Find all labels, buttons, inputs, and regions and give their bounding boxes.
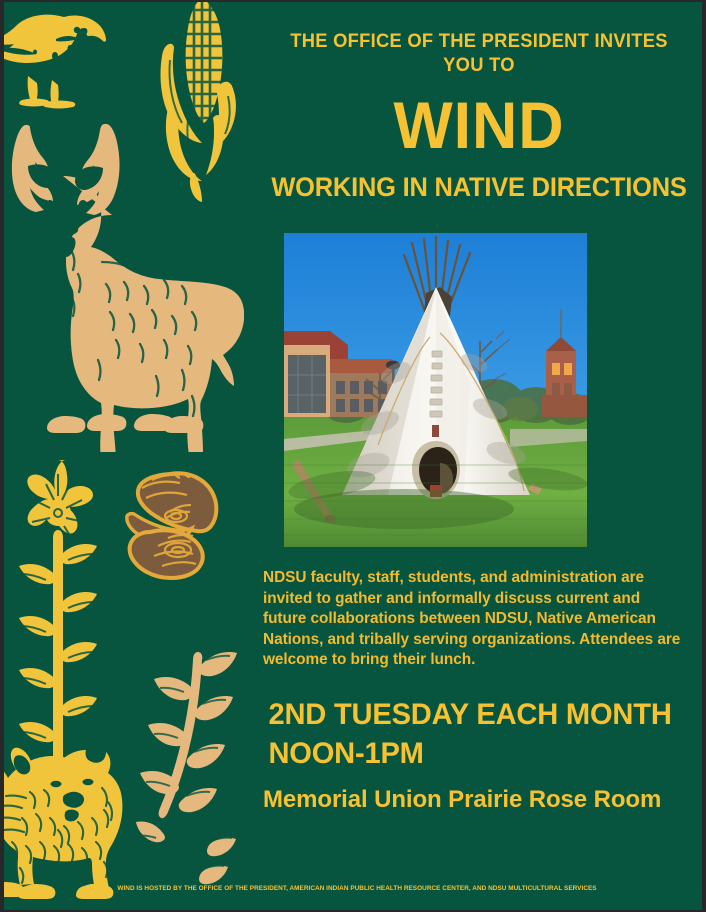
illustration-rail bbox=[4, 2, 256, 910]
invitation-kicker: THE OFFICE OF THE PRESIDENT INVITES YOU … bbox=[269, 2, 688, 78]
sunflower-plant-icon bbox=[6, 454, 114, 844]
meadowlark-bird-icon bbox=[0, 8, 126, 114]
tipi-photo-image bbox=[284, 233, 587, 547]
event-time: NOON-1PM bbox=[268, 738, 685, 770]
kicker-line-2: YOU TO bbox=[443, 54, 515, 76]
event-location: Memorial Union Prairie Rose Room bbox=[263, 787, 693, 813]
poster-content: THE OFFICE OF THE PRESIDENT INVITES YOU … bbox=[256, 2, 702, 910]
event-schedule: 2ND TUESDAY EACH MONTH NOON-1PM bbox=[268, 699, 685, 770]
kicker-line-1: THE OFFICE OF THE PRESIDENT INVITES bbox=[290, 30, 668, 52]
leafy-branch-icon bbox=[132, 648, 248, 896]
event-description: NDSU faculty, staff, students, and admin… bbox=[263, 568, 683, 670]
event-poster: THE OFFICE OF THE PRESIDENT INVITES YOU … bbox=[0, 0, 706, 912]
wind-subtitle: WORKING IN NATIVE DIRECTIONS bbox=[265, 174, 693, 201]
bear-icon bbox=[0, 732, 130, 902]
corn-cob-icon bbox=[144, 0, 254, 206]
sponsor-footer: WIND IS HOSTED BY THE OFFICE OF THE PRES… bbox=[15, 885, 700, 892]
deer-icon bbox=[6, 114, 244, 452]
squash-gourd-icon bbox=[122, 470, 226, 588]
event-day: 2ND TUESDAY EACH MONTH bbox=[268, 698, 671, 731]
wind-wordmark: WIND bbox=[267, 92, 691, 158]
tipi-photo bbox=[282, 231, 589, 549]
